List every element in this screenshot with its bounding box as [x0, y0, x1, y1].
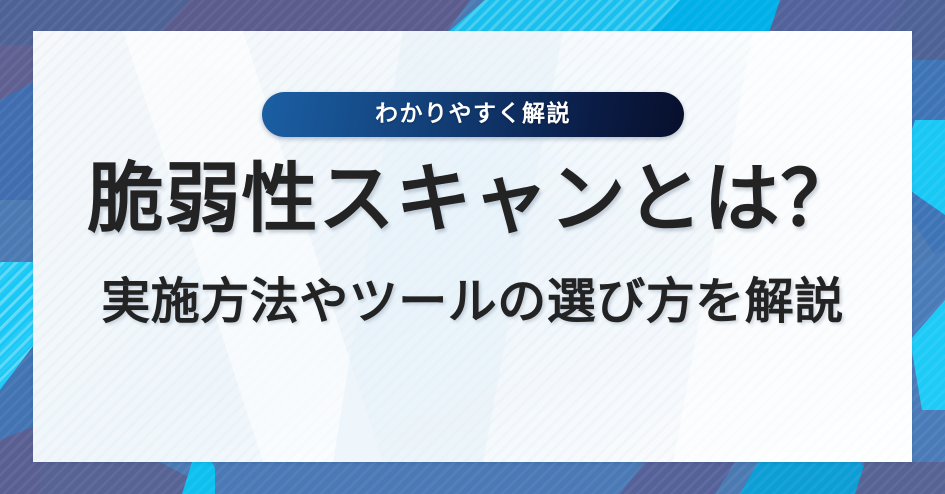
content-card: わかりやすく解説 脆弱性スキャンとは？ 実施方法やツールの選び方を解説 — [33, 31, 912, 462]
background-shape-bottom-blue-mid — [215, 462, 635, 494]
card-content: わかりやすく解説 脆弱性スキャンとは？ 実施方法やツールの選び方を解説 — [33, 31, 912, 462]
banner-canvas: わかりやすく解説 脆弱性スキャンとは？ 実施方法やツールの選び方を解説 — [0, 0, 945, 494]
eyebrow-badge-label: わかりやすく解説 — [375, 103, 571, 126]
eyebrow-badge: わかりやすく解説 — [262, 92, 684, 137]
background-shape-bottom-slate-right — [855, 462, 945, 494]
page-subtitle: 実施方法やツールの選び方を解説 — [33, 275, 912, 330]
page-title: 脆弱性スキャンとは？ — [33, 159, 912, 240]
